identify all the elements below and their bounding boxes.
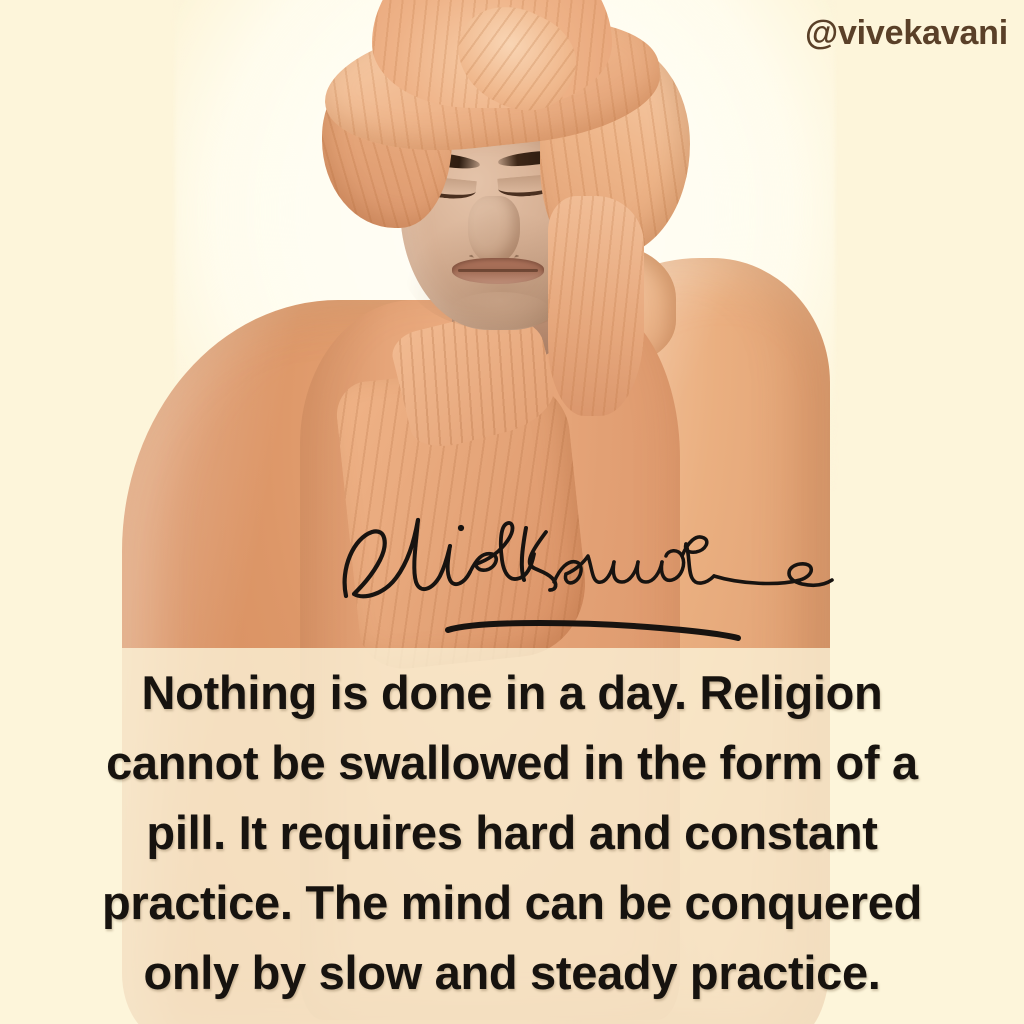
vivekananda-signature [330, 498, 850, 648]
chin [448, 292, 552, 334]
quote-text: Nothing is done in a day. Religion canno… [0, 658, 1024, 1008]
quote-line: cannot be swallowed in the form of a [34, 728, 990, 798]
turban-tail [548, 196, 644, 416]
quote-card: Nothing is done in a day. Religion canno… [0, 0, 1024, 1024]
lips [452, 258, 544, 284]
quote-line: only by slow and steady practice. [34, 938, 990, 1008]
quote-line: Nothing is done in a day. Religion [34, 658, 990, 728]
quote-line: practice. The mind can be conquered [34, 868, 990, 938]
watermark-handle: @vivekavani [805, 14, 1008, 53]
nose [468, 196, 520, 264]
quote-line: pill. It requires hard and constant [34, 798, 990, 868]
